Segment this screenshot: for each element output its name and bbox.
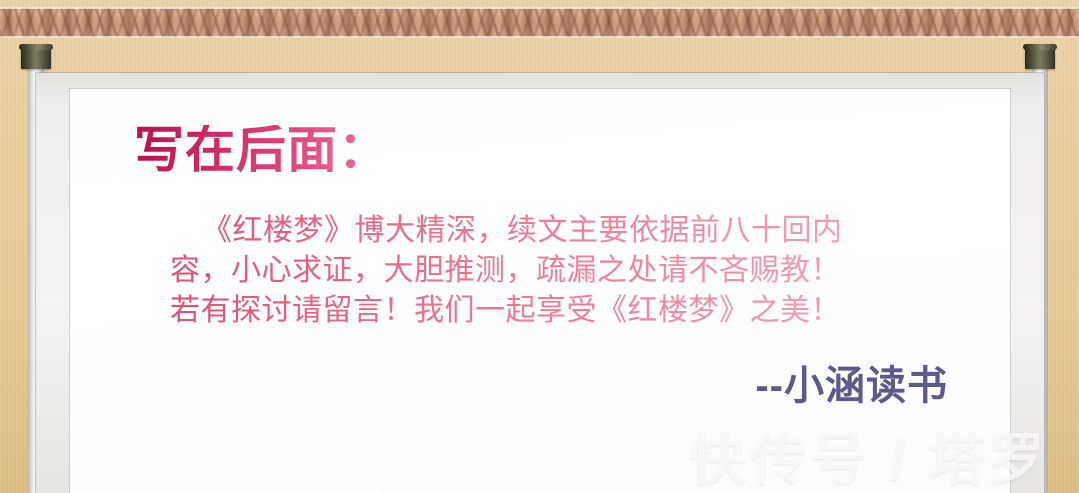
scroll-rod-cap-left [21,44,51,69]
scroll-rod-cap-right [1025,44,1055,69]
body-line: 《红楼梦》博大精深，续文主要依据前八十回内 [170,211,910,251]
body-line: 若有探讨请留言！我们一起享受《红楼梦》之美！ [170,291,910,331]
page-title: 写在后面： [134,125,389,175]
body-line: 容，小心求证，大胆推测，疏漏之处请不吝赐教！ [170,251,910,291]
brocade-border-pattern [0,7,1079,38]
author-signature: --小涵读书 [755,366,948,406]
scroll-paper-panel: 写在后面： 《红楼梦》博大精深，续文主要依据前八十回内 容，小心求证，大胆推测，… [70,89,1010,493]
body-paragraph: 《红楼梦》博大精深，续文主要依据前八十回内 容，小心求证，大胆推测，疏漏之处请不… [170,211,910,331]
scroll-artwork-canvas: 写在后面： 《红楼梦》博大精深，续文主要依据前八十回内 容，小心求证，大胆推测，… [0,0,1079,493]
